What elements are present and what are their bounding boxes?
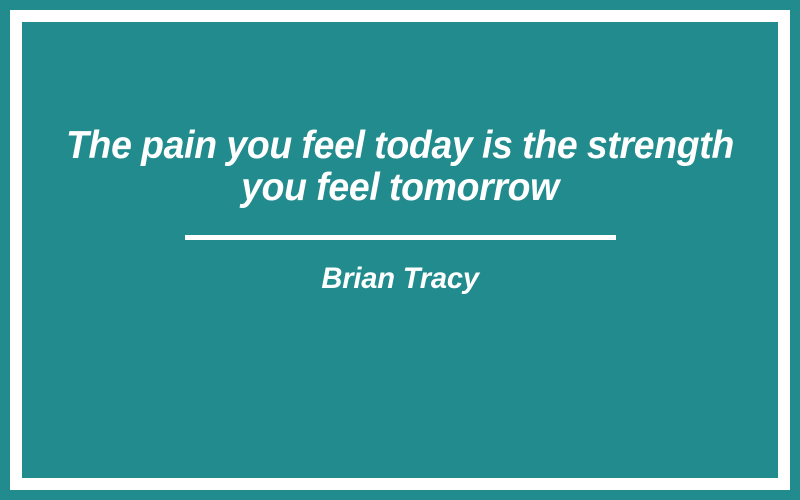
quote-card: The pain you feel today is the strength … bbox=[0, 0, 800, 500]
card-white-frame: The pain you feel today is the strength … bbox=[10, 10, 790, 490]
quote-divider bbox=[185, 235, 616, 240]
quote-text: The pain you feel today is the strength … bbox=[58, 125, 743, 209]
quote-content-block: The pain you feel today is the strength … bbox=[32, 125, 768, 296]
card-inner-panel: The pain you feel today is the strength … bbox=[22, 22, 778, 478]
author-name: Brian Tracy bbox=[321, 262, 478, 296]
